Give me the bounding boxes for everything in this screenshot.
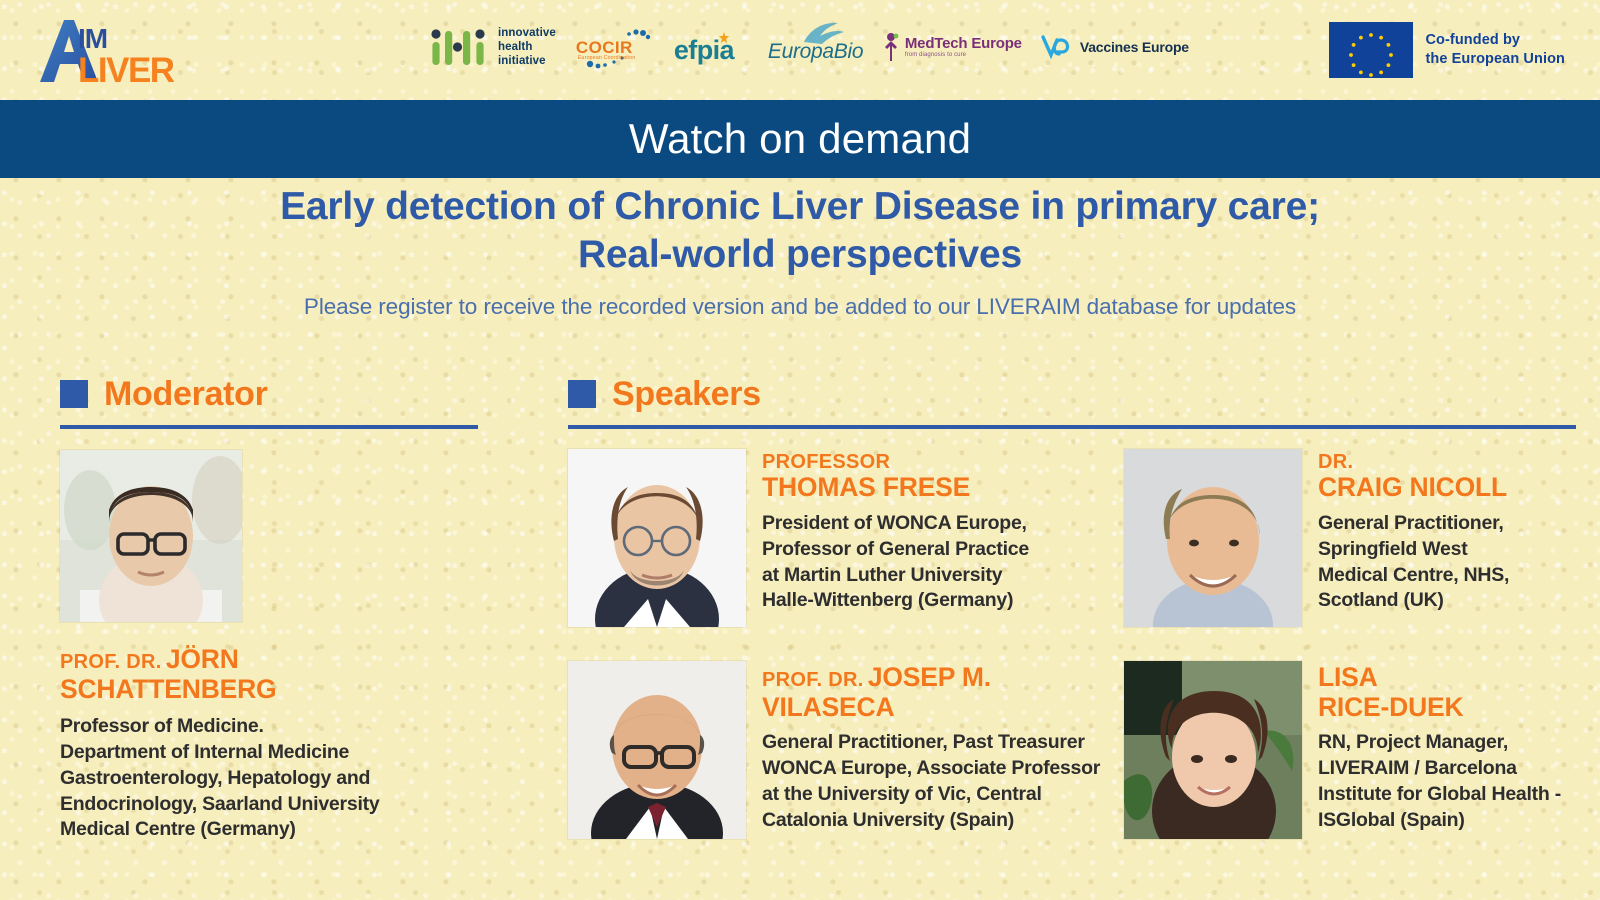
ihi-wordmark: innovative health initiative <box>498 26 556 68</box>
partner-logo-strip: innovative health initiative <box>430 24 1189 70</box>
cocir-tagline: European Coordination <box>578 55 636 61</box>
moderator-heading: Moderator <box>104 375 268 414</box>
speakers-divider <box>568 425 1576 429</box>
speaker-bio: General Practitioner, Past Treasurer WON… <box>762 730 1112 833</box>
speaker-info: PROFESSOR THOMAS FRESE President of WONC… <box>762 449 1112 661</box>
liveraim-logo[interactable]: IM LIVER <box>30 14 210 88</box>
vaccines-europe-wordmark: Vaccines Europe <box>1080 39 1189 55</box>
speaker-honorific: DR. <box>1318 451 1600 473</box>
moderator-section-header: Moderator <box>60 370 480 418</box>
speaker-bio: General Practitioner, Springfield West M… <box>1318 511 1600 614</box>
partner-logo-medtech-europe[interactable]: MedTech Europe from diagnosis to cure <box>882 32 1022 62</box>
speaker-photo-thomas-frese <box>568 449 746 627</box>
speaker-photo-josep-vilaseca <box>568 661 746 839</box>
page-title-line-1: Early detection of Chronic Liver Disease… <box>80 183 1520 231</box>
speaker-card: DR. CRAIG NICOLL General Practitioner, S… <box>1124 449 1600 661</box>
partner-logo-europabio[interactable]: EuropaBio <box>768 24 864 70</box>
speaker-honorific: PROFESSOR <box>762 451 1112 473</box>
blue-square-bullet-icon <box>568 380 596 408</box>
speaker-honorific: PROF. DR. <box>762 669 864 691</box>
page-title: Early detection of Chronic Liver Disease… <box>0 183 1600 278</box>
eu-badge-line-2: the European Union <box>1425 50 1565 69</box>
medtech-tagline: from diagnosis to cure <box>905 52 1022 58</box>
blue-square-bullet-icon <box>60 380 88 408</box>
watch-on-demand-banner[interactable]: Watch on demand <box>0 100 1600 178</box>
moderator-honorific: PROF. DR. <box>60 651 162 673</box>
speaker-name-block: LISA RICE-DUEK <box>1318 663 1600 722</box>
moderator-name-rest: SCHATTENBERG <box>60 675 480 705</box>
speaker-info: DR. CRAIG NICOLL General Practitioner, S… <box>1318 449 1600 661</box>
speaker-name-first: JOSEP M. <box>868 662 991 692</box>
moderator-column: Moderator <box>60 370 480 843</box>
speaker-name: CRAIG NICOLL <box>1318 473 1600 503</box>
speaker-name-block: PROFESSOR THOMAS FRESE <box>762 451 1112 503</box>
partner-logo-efpia[interactable]: efpia <box>674 25 750 69</box>
ihi-line-3: initiative <box>498 54 556 68</box>
speaker-name: THOMAS FRESE <box>762 473 1112 503</box>
speaker-name-inline: PROF. DR. JOSEP M. <box>762 663 1112 693</box>
speakers-grid: PROFESSOR THOMAS FRESE President of WONC… <box>568 449 1578 839</box>
speaker-name-rest: VILASECA <box>762 693 1112 723</box>
speaker-name-block: PROF. DR. JOSEP M. VILASECA <box>762 663 1112 722</box>
speaker-name-first: LISA <box>1318 663 1600 693</box>
ihi-line-2: health <box>498 40 556 54</box>
moderator-bio: Professor of Medicine. Department of Int… <box>60 714 480 843</box>
moderator-card: PROF. DR. JÖRN SCHATTENBERG Professor of… <box>60 450 480 843</box>
medtech-figure-icon <box>882 32 900 62</box>
speakers-heading: Speakers <box>612 375 761 414</box>
vaccines-europe-mark-icon <box>1040 34 1074 60</box>
speaker-card: PROFESSOR THOMAS FRESE President of WONC… <box>568 449 1124 661</box>
ihi-line-1: innovative <box>498 26 556 40</box>
efpia-star-icon <box>718 32 730 44</box>
ihi-mark-icon <box>430 27 492 67</box>
speaker-name-rest: RICE-DUEK <box>1318 693 1600 723</box>
title-block: Early detection of Chronic Liver Disease… <box>0 183 1600 320</box>
page-subtitle: Please register to receive the recorded … <box>0 294 1600 320</box>
eu-flag-icon <box>1329 22 1413 78</box>
eu-cofunding-badge[interactable]: Co-funded by the European Union <box>1329 22 1565 78</box>
partner-logo-ihi[interactable]: innovative health initiative <box>430 26 556 68</box>
eu-badge-line-1: Co-funded by <box>1425 31 1565 50</box>
speaker-photo-lisa-rice-duek <box>1124 661 1302 839</box>
speaker-name-block: DR. CRAIG NICOLL <box>1318 451 1600 503</box>
page-title-line-2: Real-world perspectives <box>80 231 1520 279</box>
speaker-info: PROF. DR. JOSEP M. VILASECA General Prac… <box>762 661 1112 839</box>
europabio-wordmark: EuropaBio <box>768 40 863 64</box>
speakers-column: Speakers <box>568 370 1578 839</box>
moderator-name-block: PROF. DR. JÖRN SCHATTENBERG <box>60 645 480 704</box>
speaker-bio: President of WONCA Europe, Professor of … <box>762 511 1112 614</box>
moderator-name-first: JÖRN <box>166 644 239 674</box>
moderator-info: PROF. DR. JÖRN SCHATTENBERG Professor of… <box>60 643 480 843</box>
partner-logo-vaccines-europe[interactable]: Vaccines Europe <box>1040 34 1189 60</box>
moderator-divider <box>60 425 478 429</box>
page-header: IM LIVER innovative health initiative <box>0 0 1600 100</box>
svg-text:IM: IM <box>78 23 107 54</box>
speakers-section-header: Speakers <box>568 370 1578 418</box>
banner-label: Watch on demand <box>629 115 971 163</box>
moderator-photo <box>60 450 242 622</box>
speaker-info: LISA RICE-DUEK RN, Project Manager, LIVE… <box>1318 661 1600 839</box>
speaker-bio: RN, Project Manager, LIVERAIM / Barcelon… <box>1318 730 1600 833</box>
speaker-photo-craig-nicoll <box>1124 449 1302 627</box>
partner-logo-cocir[interactable]: COCIR European Coordination <box>574 25 656 69</box>
speaker-card: PROF. DR. JOSEP M. VILASECA General Prac… <box>568 661 1124 839</box>
svg-text:LIVER: LIVER <box>78 51 175 88</box>
medtech-wordmark: MedTech Europe <box>905 36 1022 52</box>
speaker-card: LISA RICE-DUEK RN, Project Manager, LIVE… <box>1124 661 1600 839</box>
